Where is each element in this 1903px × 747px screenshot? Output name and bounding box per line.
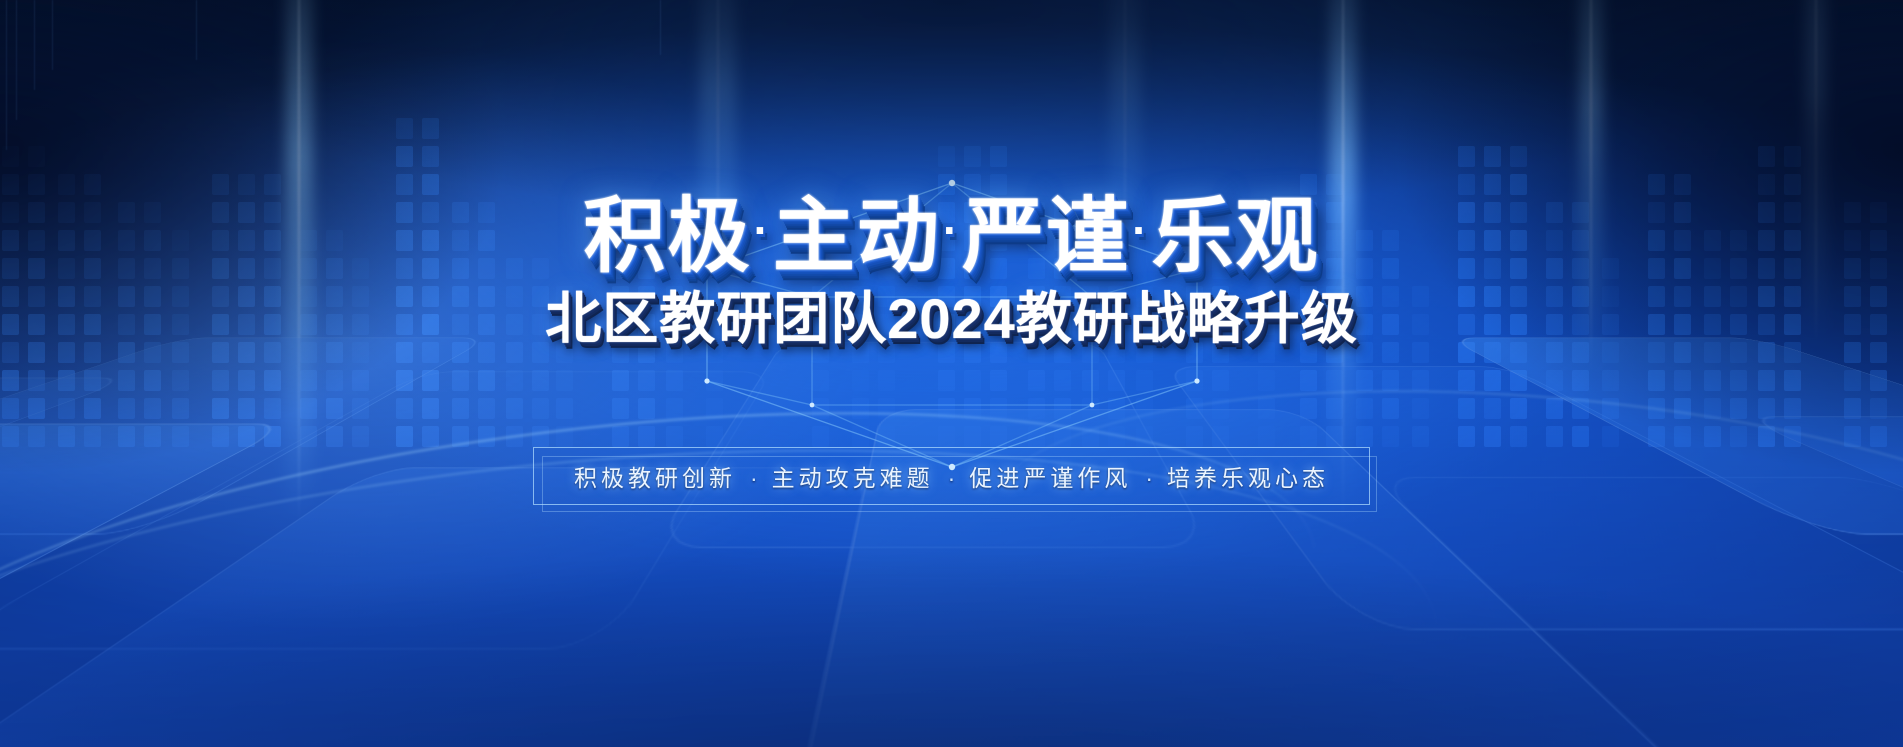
title-block: 积极·主动·严谨·乐观 北区教研团队2024教研战略升级 <box>0 196 1903 349</box>
tagline-wrap: 积极教研创新·主动攻克难题·促进严谨作风·培养乐观心态 <box>0 447 1903 505</box>
tagline-item-4: 培养乐观心态 <box>1167 465 1329 491</box>
background-streak <box>16 0 17 120</box>
banner-content: 积极·主动·严谨·乐观 北区教研团队2024教研战略升级 积极教研创新·主动攻克… <box>0 0 1903 747</box>
background-streak <box>660 0 661 55</box>
tagline-separator: · <box>1131 465 1167 491</box>
main-title-segment-3: 严谨 <box>962 191 1130 282</box>
tagline-item-2: 主动攻克难题 <box>772 465 934 491</box>
main-title-segment-1: 积极 <box>583 191 751 282</box>
background-streak <box>34 0 35 90</box>
tagline-frame: 积极教研创新·主动攻克难题·促进严谨作风·培养乐观心态 <box>533 447 1370 505</box>
banner-stage: 积极·主动·严谨·乐观 北区教研团队2024教研战略升级 积极教研创新·主动攻克… <box>0 0 1903 747</box>
tagline-separator: · <box>934 465 970 491</box>
tagline-item-3: 促进严谨作风 <box>969 465 1131 491</box>
main-title-segment-4: 乐观 <box>1152 191 1320 282</box>
tagline: 积极教研创新·主动攻克难题·促进严谨作风·培养乐观心态 <box>574 459 1329 493</box>
background-streak <box>52 0 53 70</box>
title-separator: · <box>751 204 772 256</box>
sub-title: 北区教研团队2024教研战略升级 <box>0 290 1903 349</box>
background-streak <box>6 0 7 150</box>
main-title-segment-2: 主动 <box>773 191 941 282</box>
title-separator: · <box>1130 204 1151 256</box>
tagline-item-1: 积极教研创新 <box>574 465 736 491</box>
background-streak <box>196 0 197 60</box>
tagline-separator: · <box>736 465 772 491</box>
title-separator: · <box>941 204 962 256</box>
main-title: 积极·主动·严谨·乐观 <box>0 196 1903 278</box>
